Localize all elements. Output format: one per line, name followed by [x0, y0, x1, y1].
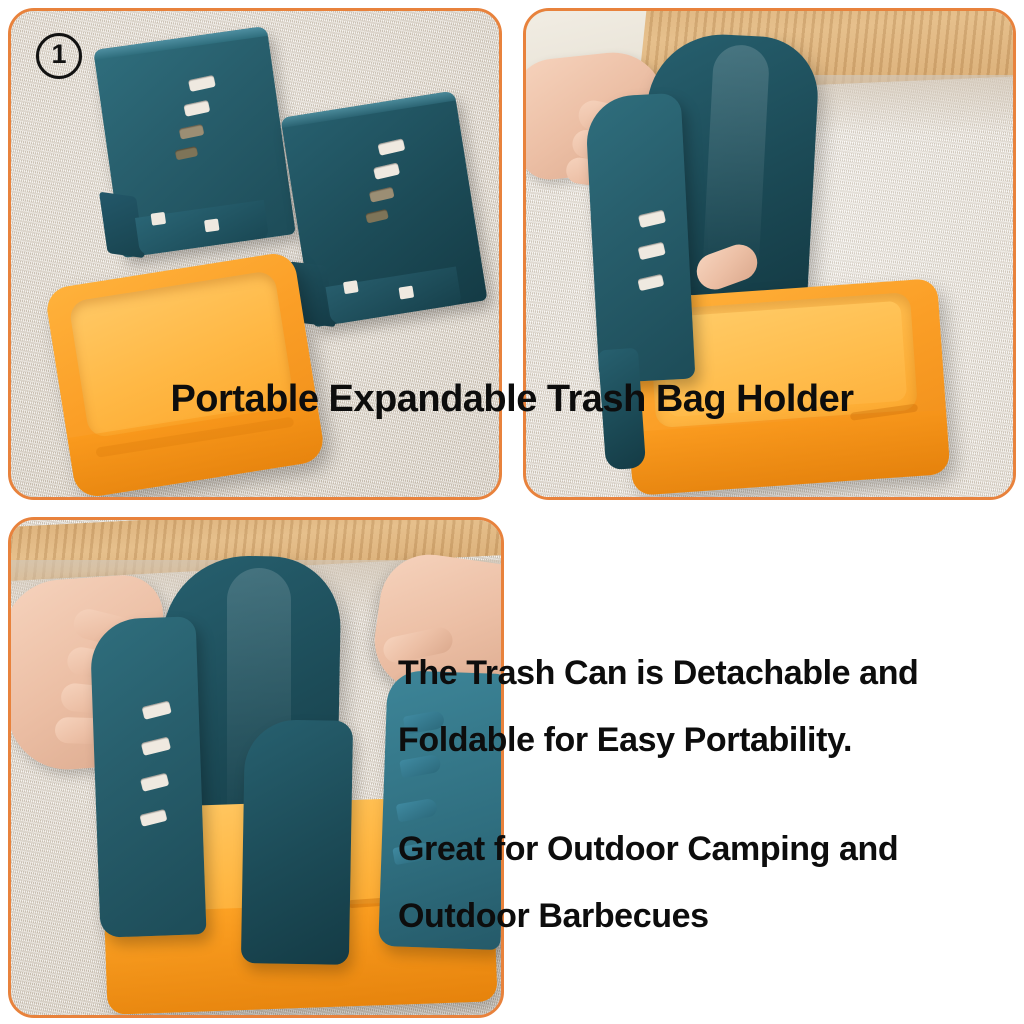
- step-badge-1: 1: [36, 33, 82, 79]
- panel-slot: [142, 700, 172, 719]
- orange-base-tray: [44, 251, 326, 497]
- headline-text: Portable Expandable Trash Bag Holder: [0, 378, 1024, 421]
- panel-slot: [637, 274, 664, 291]
- feature-line-3: Great for Outdoor Camping and: [398, 816, 1024, 883]
- teal-panel-right: [281, 91, 488, 328]
- panel-slot: [140, 773, 169, 792]
- teal-panel-middle-front: [241, 719, 353, 965]
- teal-panel-left: [93, 26, 296, 258]
- panel-slot: [638, 210, 666, 229]
- teal-panel-left-front: [89, 616, 206, 938]
- step-1-photo: [11, 11, 499, 497]
- panel-slot: [188, 75, 216, 92]
- panel-slot: [373, 162, 400, 179]
- feature-line-4: Outdoor Barbecues: [398, 883, 1024, 950]
- panel-slot: [377, 138, 405, 156]
- feature-line-1: The Trash Can is Detachable and: [398, 640, 1024, 707]
- panel-slot: [139, 809, 167, 827]
- step-panel-1: 1: [8, 8, 502, 500]
- feature-spacer: [398, 774, 1024, 816]
- step-2-photo: [526, 11, 1013, 497]
- panel-slot: [183, 100, 210, 117]
- teal-panel-front: [585, 93, 696, 384]
- feature-line-2: Foldable for Easy Portability.: [398, 707, 1024, 774]
- panel-slot: [638, 242, 666, 261]
- panel-slot: [365, 209, 389, 224]
- panel-slot: [179, 124, 205, 140]
- panel-slot: [369, 187, 395, 203]
- panel-slot: [141, 737, 171, 756]
- product-infographic: 1: [0, 0, 1024, 1024]
- feature-text-block: The Trash Can is Detachable and Foldable…: [398, 640, 1024, 950]
- panel-slot: [175, 146, 199, 160]
- step-panel-2: 2: [523, 8, 1016, 500]
